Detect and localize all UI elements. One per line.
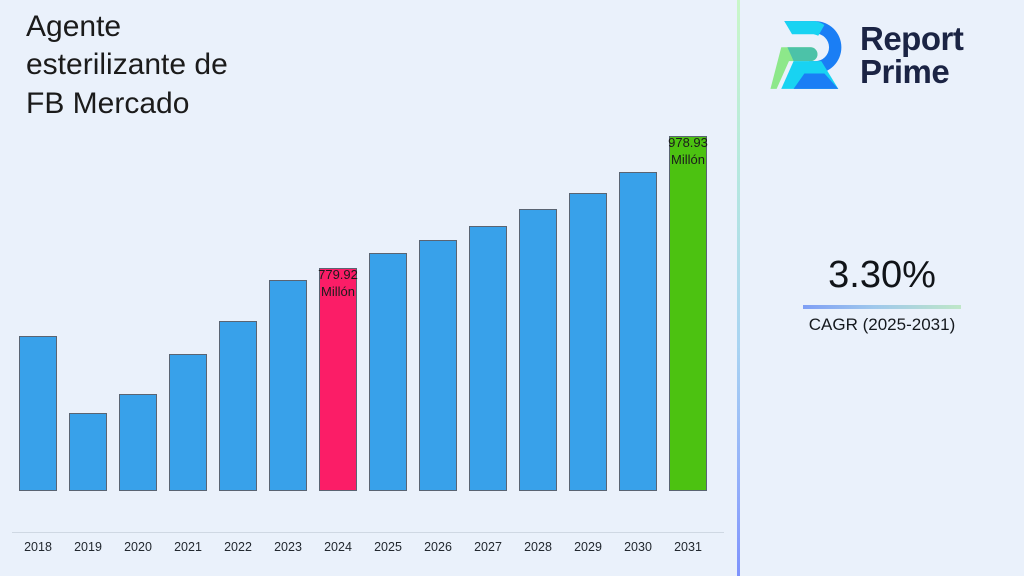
x-axis-tick-2021: 2021 (163, 540, 213, 554)
x-axis-tick-2020: 2020 (113, 540, 163, 554)
x-axis-tick-2029: 2029 (563, 540, 613, 554)
x-axis-tick-2024: 2024 (313, 540, 363, 554)
bar-2029 (569, 193, 607, 491)
x-axis-tick-2022: 2022 (213, 540, 263, 554)
bar-chart-plot-area: 2018201920202021202220232024779.92 Milló… (0, 0, 738, 534)
bar-2019 (69, 413, 107, 491)
brand-panel: Report Prime 3.30% CAGR (2025-2031) (740, 0, 1024, 576)
x-axis-tick-2025: 2025 (363, 540, 413, 554)
bar-2022 (219, 321, 257, 491)
report-prime-logo-mark (770, 18, 848, 92)
x-axis-tick-2026: 2026 (413, 540, 463, 554)
cagr-divider-rule (803, 305, 961, 309)
x-axis-tick-2018: 2018 (13, 540, 63, 554)
x-axis-tick-2028: 2028 (513, 540, 563, 554)
bar-2030 (619, 172, 657, 491)
bar-2031 (669, 136, 707, 491)
bar-2027 (469, 226, 507, 491)
x-axis-tick-2027: 2027 (463, 540, 513, 554)
bar-2023 (269, 280, 307, 491)
bar-2020 (119, 394, 157, 491)
chart-panel: Agente esterilizante de FB Mercado 20182… (0, 0, 738, 576)
x-axis-line (12, 532, 724, 533)
x-axis-tick-2031: 2031 (663, 540, 713, 554)
x-axis-tick-2019: 2019 (63, 540, 113, 554)
report-prime-logo: Report Prime (770, 12, 1014, 98)
infographic-page: Agente esterilizante de FB Mercado 20182… (0, 0, 1024, 576)
bar-2025 (369, 253, 407, 491)
x-axis-tick-2030: 2030 (613, 540, 663, 554)
x-axis-tick-2023: 2023 (263, 540, 313, 554)
cagr-caption: CAGR (2025-2031) (740, 315, 1024, 335)
logo-wordmark: Report Prime (860, 22, 963, 88)
bar-2018 (19, 336, 57, 491)
bar-2026 (419, 240, 457, 491)
bar-2024 (319, 268, 357, 491)
bar-2021 (169, 354, 207, 491)
bar-2028 (519, 209, 557, 491)
bar-value-label-2031: 978.93 Millón (640, 134, 736, 168)
cagr-value: 3.30% (740, 255, 1024, 297)
cagr-block: 3.30% CAGR (2025-2031) (740, 255, 1024, 335)
